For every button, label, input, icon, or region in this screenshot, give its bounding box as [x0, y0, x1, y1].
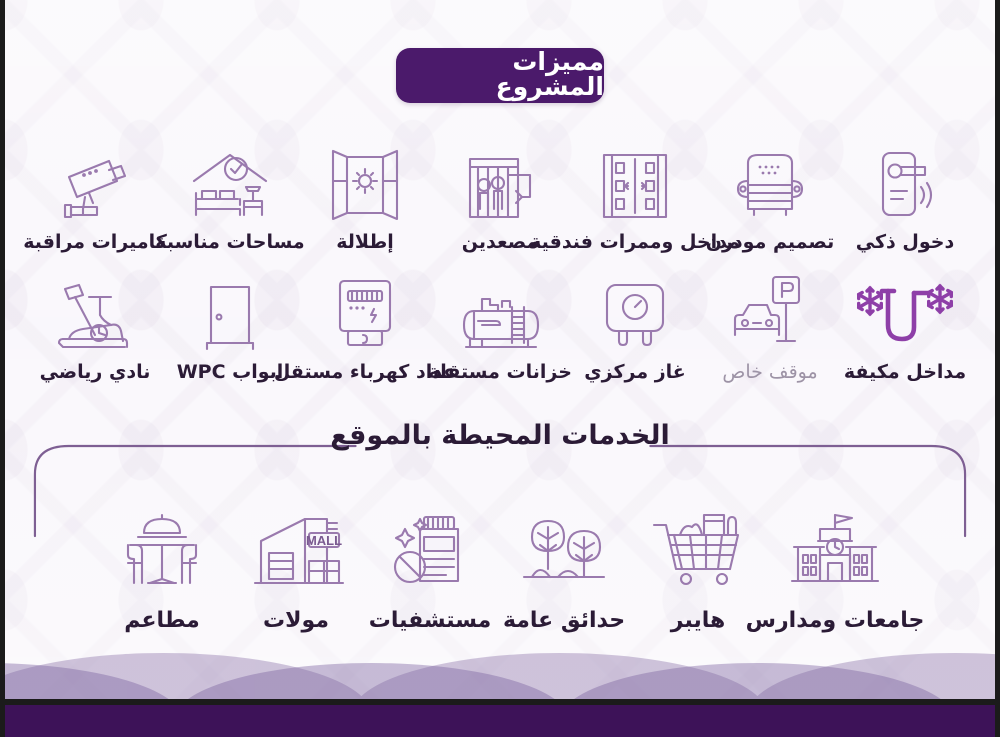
feature-item: مداخل وممرات فندقية: [569, 145, 701, 253]
feature-label: نادي رياضي: [40, 362, 151, 383]
hotel-double-door-icon: [594, 145, 676, 223]
service-item: MALL مولات: [229, 505, 363, 633]
parking-car-icon: [725, 275, 815, 353]
shopping-cart-icon: [646, 505, 750, 593]
armchair-icon: [728, 145, 812, 223]
feature-item: مصعدين: [434, 145, 566, 253]
security-camera-icon: [53, 145, 137, 223]
park-trees-icon: [514, 505, 614, 593]
feature-item: نادي رياضي: [29, 275, 161, 383]
feature-item: إطلالة: [299, 145, 431, 253]
water-tank-icon: [452, 275, 548, 353]
feature-label: غاز مركزي: [584, 362, 686, 383]
feature-item: مداخل مكيفة: [839, 275, 971, 383]
service-item: هايبر: [631, 505, 765, 633]
feature-item: مساحات مناسبة: [164, 145, 296, 253]
feature-item: كاميرات مراقبة: [29, 145, 161, 253]
feature-label: موقف خاص: [722, 362, 817, 383]
feature-item: ابواب WPC: [164, 275, 296, 383]
infographic-poster: مميزات المشروع: [0, 0, 1000, 737]
elevator-icon: [458, 145, 542, 223]
feature-item: عداد كهرباء مستقل: [299, 275, 431, 383]
bedroom-house-icon: [182, 145, 278, 223]
door-icon: [197, 275, 263, 353]
medicine-pills-icon: [384, 505, 476, 593]
feature-label: إطلالة: [336, 232, 394, 253]
feature-label: مداخل مكيفة: [844, 362, 966, 383]
section-heading: الخدمات المحيطة بالموقع: [316, 420, 683, 451]
service-item: حدائق عامة: [497, 505, 631, 633]
feature-label: عداد كهرباء مستقل: [274, 362, 456, 383]
school-building-icon: [782, 505, 888, 593]
decorative-waves: [5, 629, 995, 699]
air-conditioning-icon: [852, 275, 958, 353]
bottom-color-band: [5, 705, 995, 737]
service-item: مستشفيات: [363, 505, 497, 633]
feature-label: مساحات مناسبة: [155, 232, 304, 253]
feature-label: دخول ذكي: [856, 232, 954, 253]
mall-building-icon: MALL: [243, 505, 349, 593]
services-row: مطاعم MALL: [95, 505, 905, 633]
restaurant-table-icon: [108, 505, 216, 593]
page-title-badge: مميزات المشروع: [396, 48, 604, 103]
exercise-bike-icon: [49, 275, 141, 353]
feature-item: موقف خاص: [704, 275, 836, 383]
features-row-2: نادي رياضي ابواب WPC: [29, 275, 971, 383]
page-title: مميزات المشروع: [396, 49, 604, 102]
feature-label: كاميرات مراقبة: [23, 232, 167, 253]
feature-label: مصعدين: [462, 232, 538, 253]
gas-boiler-icon: [597, 275, 673, 353]
service-item: جامعات ومدارس: [765, 505, 905, 633]
mall-sign-text: MALL: [306, 533, 342, 548]
service-item: مطاعم: [95, 505, 229, 633]
smart-door-handle-icon: [867, 145, 943, 223]
electric-meter-icon: [330, 275, 400, 353]
feature-item: غاز مركزي: [569, 275, 701, 383]
window-view-icon: [325, 145, 405, 223]
features-row-1: كاميرات مراقبة مساحا: [29, 145, 971, 253]
feature-label: ابواب WPC: [177, 362, 284, 383]
feature-item: دخول ذكي: [839, 145, 971, 253]
